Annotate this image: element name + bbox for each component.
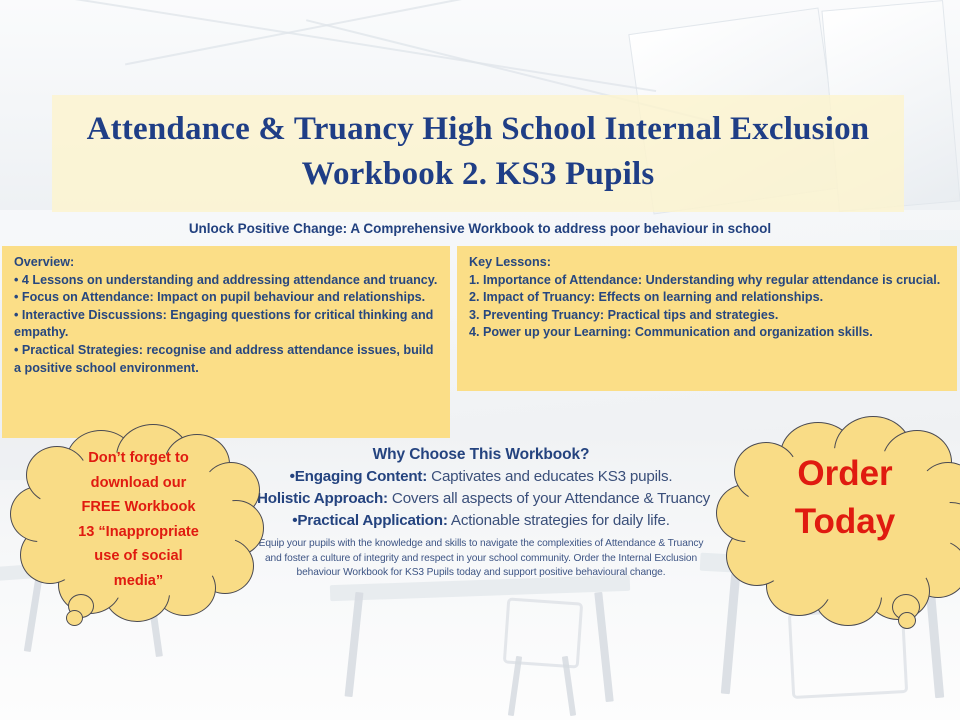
free-workbook-bubble-text: Don’t forget to download our FREE Workbo… — [46, 446, 231, 593]
key-lessons-panel: Key Lessons: 1. Importance of Attendance… — [457, 246, 957, 391]
bubble-right-line-2: Today — [750, 498, 940, 546]
why-choose-item-3-label: •Practical Application: — [292, 512, 447, 529]
page-title: Attendance & Truancy High School Interna… — [52, 107, 904, 197]
why-choose-item-3-text: Actionable strategies for daily life. — [451, 512, 670, 529]
why-choose-item-2: •Holistic Approach: Covers all aspects o… — [248, 488, 714, 510]
overview-panel: Overview: • 4 Lessons on understanding a… — [2, 246, 450, 438]
bubble-left-line-6: media” — [46, 569, 231, 594]
overview-bullet-4: • Practical Strategies: recognise and ad… — [14, 342, 440, 377]
bubble-tail-small — [66, 610, 83, 626]
key-lesson-2: 2. Impact of Truancy: Effects on learnin… — [469, 289, 947, 307]
bubble-left-line-1: Don’t forget to — [46, 446, 231, 471]
bubble-left-line-3: FREE Workbook — [46, 495, 231, 520]
why-choose-heading: Why Choose This Workbook? — [248, 446, 714, 464]
bubble-left-line-5: use of social — [46, 544, 231, 569]
overview-heading: Overview: — [14, 254, 440, 272]
why-choose-item-1-label: •Engaging Content: — [290, 468, 428, 485]
why-choose-paragraph: Equip your pupils with the knowledge and… — [248, 537, 714, 581]
why-choose-item-2-label: •Holistic Approach: — [252, 490, 388, 507]
key-lesson-1: 1. Importance of Attendance: Understandi… — [469, 272, 947, 290]
poster-canvas: Attendance & Truancy High School Interna… — [0, 0, 960, 720]
why-choose-item-1: •Engaging Content: Captivates and educat… — [248, 466, 714, 488]
overview-bullet-1: • 4 Lessons on understanding and address… — [14, 272, 440, 290]
key-lesson-3: 3. Preventing Truancy: Practical tips an… — [469, 307, 947, 325]
overview-bullet-2: • Focus on Attendance: Impact on pupil b… — [14, 289, 440, 307]
overview-bullet-3: • Interactive Discussions: Engaging ques… — [14, 307, 440, 342]
why-choose-item-2-text: Covers all aspects of your Attendance & … — [392, 490, 710, 507]
bubble-left-line-4: 13 “Inappropriate — [46, 520, 231, 545]
bubble-tail-small — [898, 612, 916, 629]
page-subtitle: Unlock Positive Change: A Comprehensive … — [80, 221, 880, 236]
why-choose-item-3: •Practical Application: Actionable strat… — [248, 510, 714, 532]
key-lesson-4: 4. Power up your Learning: Communication… — [469, 324, 947, 342]
bubble-right-line-1: Order — [750, 450, 940, 498]
why-choose-section: Why Choose This Workbook? •Engaging Cont… — [248, 446, 714, 581]
order-today-thought-bubble[interactable]: Order Today — [722, 422, 960, 627]
free-workbook-thought-bubble[interactable]: Don’t forget to download our FREE Workbo… — [12, 428, 262, 628]
key-lessons-heading: Key Lessons: — [469, 254, 947, 272]
why-choose-item-1-text: Captivates and educates KS3 pupils. — [431, 468, 672, 485]
order-today-bubble-text: Order Today — [750, 450, 940, 546]
bubble-left-line-2: download our — [46, 471, 231, 496]
